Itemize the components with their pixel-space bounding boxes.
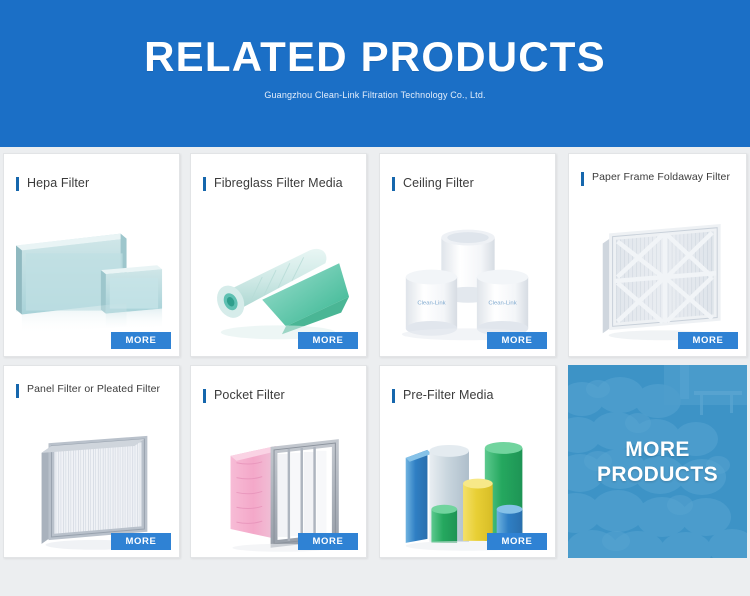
more-button[interactable]: MORE bbox=[678, 332, 738, 349]
product-card-pre-filter-media[interactable]: Pre-Filter Media bbox=[379, 365, 556, 558]
related-products-page: RELATED PRODUCTS Guangzhou Clean-Link Fi… bbox=[0, 0, 750, 596]
more-button[interactable]: MORE bbox=[487, 533, 547, 550]
more-products-panel[interactable]: MORE PRODUCTS bbox=[568, 365, 747, 558]
product-card-fibreglass-filter-media[interactable]: Fibreglass Filter Media bbox=[190, 153, 367, 357]
product-title: Fibreglass Filter Media bbox=[203, 176, 356, 191]
promo-line-2: PRODUCTS bbox=[597, 462, 718, 487]
page-header: RELATED PRODUCTS Guangzhou Clean-Link Fi… bbox=[0, 0, 750, 147]
promo-label: MORE PRODUCTS bbox=[568, 365, 747, 558]
product-title: Paper Frame Foldaway Filter bbox=[581, 171, 736, 184]
product-title: Hepa Filter bbox=[16, 176, 169, 191]
svg-text:Clean-Link: Clean-Link bbox=[417, 301, 445, 307]
svg-text:Clean-Link: Clean-Link bbox=[488, 301, 516, 307]
product-card-panel-filter-or-pleated-filter[interactable]: Panel Filter or Pleated Filter bbox=[3, 365, 180, 558]
product-grid: Hepa Filter bbox=[0, 150, 750, 562]
product-card-pocket-filter[interactable]: Pocket Filter bbox=[190, 365, 367, 558]
more-button[interactable]: MORE bbox=[111, 533, 171, 550]
product-title: Ceiling Filter bbox=[392, 176, 545, 191]
more-button[interactable]: MORE bbox=[111, 332, 171, 349]
more-button[interactable]: MORE bbox=[487, 332, 547, 349]
product-card-paper-frame-foldaway-filter[interactable]: Paper Frame Foldaway Filter bbox=[568, 153, 747, 357]
product-card-hepa-filter[interactable]: Hepa Filter bbox=[3, 153, 180, 357]
promo-line-1: MORE bbox=[625, 437, 690, 462]
more-button[interactable]: MORE bbox=[298, 533, 358, 550]
product-title: Panel Filter or Pleated Filter bbox=[16, 383, 169, 396]
product-title: Pocket Filter bbox=[203, 388, 356, 403]
company-subtitle: Guangzhou Clean-Link Filtration Technolo… bbox=[264, 90, 485, 100]
page-title: RELATED PRODUCTS bbox=[144, 36, 606, 78]
more-button[interactable]: MORE bbox=[298, 332, 358, 349]
product-card-ceiling-filter[interactable]: Ceiling Filter bbox=[379, 153, 556, 357]
product-title: Pre-Filter Media bbox=[392, 388, 545, 403]
